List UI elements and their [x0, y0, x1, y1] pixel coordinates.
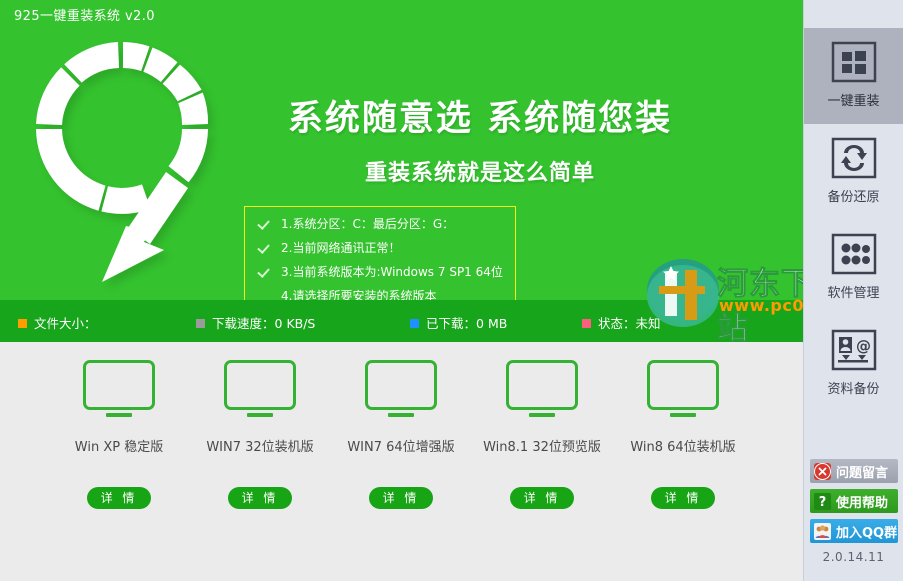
status-state: 状态：未知 [582, 313, 661, 332]
status-downloaded-label: 已下载： [426, 316, 476, 331]
os-option-2[interactable]: WIN7 64位增强版 [321, 360, 481, 455]
sidebar-item-backup-restore[interactable]: 备份还原 [804, 124, 903, 220]
checklist-item-1: 1.系统分区：C：最后分区：G： [245, 212, 515, 236]
square-bullet-icon [582, 319, 591, 328]
status-downloaded: 已下载：0 MB [410, 313, 507, 332]
sidebar-item-label: 一键重装 [804, 90, 903, 109]
help-button[interactable]: ? 使用帮助 [810, 489, 898, 513]
os-selection-grid: Win XP 稳定版 详 情 WIN7 32位装机版 详 情 WIN7 64位增… [0, 342, 803, 581]
checklist-item-4: 4.请选择所要安装的系统版本 [245, 284, 515, 300]
feedback-button[interactable]: 问题留言 [810, 459, 898, 483]
checklist-item-text: 1.系统分区：C：最后分区：G： [281, 217, 454, 231]
os-option-label: WIN7 32位装机版 [180, 436, 340, 455]
join-qq-group-button[interactable]: 加入QQ群 [810, 519, 898, 543]
apps-grid-icon [829, 233, 879, 275]
os-option-label: Win8.1 32位预览版 [462, 436, 622, 455]
detail-button-1[interactable]: 详 情 [228, 487, 292, 509]
check-icon [259, 242, 270, 253]
join-qq-group-label: 加入QQ群 [836, 522, 897, 541]
sidebar-item-data-backup[interactable]: @ 资料备份 [804, 316, 903, 412]
hero-banner: 系统随意选 系统随您装 重装系统就是这么简单 1.系统分区：C：最后分区：G： … [0, 28, 803, 300]
sync-icon [829, 137, 879, 179]
sidebar-item-label: 资料备份 [804, 378, 903, 397]
square-bullet-icon [410, 319, 419, 328]
sidebar-item-reinstall[interactable]: 一键重装 [804, 28, 903, 124]
detail-button-4[interactable]: 详 情 [651, 487, 715, 509]
app-window: 925一键重装系统 v2.0 [0, 0, 903, 581]
title-bar: 925一键重装系统 v2.0 [0, 0, 903, 28]
status-state-value: 未知 [636, 316, 661, 331]
status-speed-label: 下载速度： [212, 316, 275, 331]
os-option-label: WIN7 64位增强版 [321, 436, 481, 455]
os-option-0[interactable]: Win XP 稳定版 [39, 360, 199, 455]
status-speed-value: 0 KB/S [275, 316, 316, 331]
windows-icon [829, 41, 879, 83]
status-speed: 下载速度：0 KB/S [196, 313, 315, 332]
svg-text:@: @ [856, 337, 871, 355]
status-filesize-label: 文件大小： [34, 316, 97, 331]
checklist-item-2: 2.当前网络通讯正常！ [245, 236, 515, 260]
os-option-1[interactable]: WIN7 32位装机版 [180, 360, 340, 455]
status-state-label: 状态： [598, 316, 636, 331]
status-checklist-box: 1.系统分区：C：最后分区：G： 2.当前网络通讯正常！ 3.当前系统版本为:W… [244, 206, 516, 300]
feedback-button-label: 问题留言 [836, 462, 888, 481]
square-bullet-icon [196, 319, 205, 328]
checklist-item-text: 2.当前网络通讯正常！ [281, 241, 400, 255]
monitor-icon [83, 360, 155, 418]
group-people-icon [814, 523, 831, 540]
banner-headline: 系统随意选 系统随您装 [240, 90, 720, 141]
checklist-item-text: 4.请选择所要安装的系统版本 [281, 289, 436, 300]
monitor-icon [506, 360, 578, 418]
checklist-item-3: 3.当前系统版本为:Windows 7 SP1 64位 [245, 260, 515, 284]
square-bullet-icon [18, 319, 27, 328]
status-downloaded-value: 0 MB [476, 316, 507, 331]
detail-button-3[interactable]: 详 情 [510, 487, 574, 509]
error-x-icon [814, 463, 831, 480]
os-option-4[interactable]: Win8 64位装机版 [603, 360, 763, 455]
svg-text:?: ? [819, 495, 827, 510]
os-option-label: Win8 64位装机版 [603, 436, 763, 455]
help-button-label: 使用帮助 [836, 492, 888, 511]
contacts-icon: @ [829, 329, 879, 371]
nine-logo-icon [18, 36, 234, 298]
monitor-icon [365, 360, 437, 418]
monitor-icon [224, 360, 296, 418]
question-mark-icon: ? [814, 493, 831, 510]
check-icon [259, 266, 270, 277]
sidebar-item-label: 备份还原 [804, 186, 903, 205]
right-sidebar: 一键重装 备份还原 软件管理 [803, 0, 903, 581]
banner-subheadline: 重装系统就是这么简单 [240, 155, 720, 187]
detail-button-0[interactable]: 详 情 [87, 487, 151, 509]
sidebar-item-software-manager[interactable]: 软件管理 [804, 220, 903, 316]
sidebar-item-label: 软件管理 [804, 282, 903, 301]
window-title: 925一键重装系统 v2.0 [14, 5, 155, 24]
download-status-bar: 文件大小： 下载速度：0 KB/S 已下载：0 MB 状态：未知 [0, 300, 803, 342]
os-option-3[interactable]: Win8.1 32位预览版 [462, 360, 622, 455]
check-icon [259, 218, 270, 229]
version-label: 2.0.14.11 [804, 550, 903, 564]
monitor-icon [647, 360, 719, 418]
checklist-item-text: 3.当前系统版本为:Windows 7 SP1 64位 [281, 265, 503, 279]
status-filesize: 文件大小： [18, 313, 97, 332]
os-option-label: Win XP 稳定版 [39, 436, 199, 455]
detail-button-2[interactable]: 详 情 [369, 487, 433, 509]
